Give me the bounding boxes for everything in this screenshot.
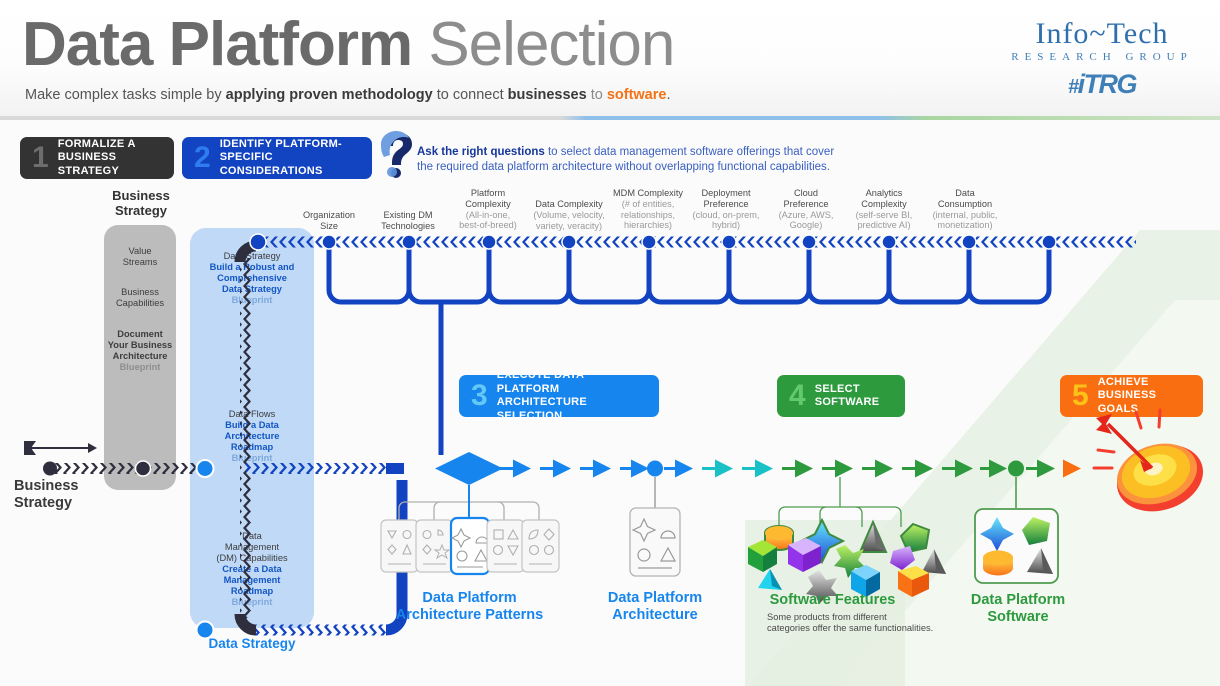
step-1-label: FORMALIZE A BUSINESS STRATEGY (58, 138, 174, 179)
software-shape-blue-star (980, 517, 1014, 551)
patterns-tree (399, 485, 539, 520)
logo-itrg: #iTRG (1002, 69, 1202, 100)
features-tree (779, 477, 901, 527)
bs-item-2-title: Document Your Business Architecture (108, 329, 172, 361)
column-header-analytics-complexity: Analytics Complexity (self-serve BI, pre… (843, 188, 925, 231)
column-header-data-consumption: Data Consumption (internal, public, mone… (920, 188, 1010, 231)
step-3-number: 3 (471, 381, 488, 411)
col-title-6: Cloud Preference (765, 188, 847, 210)
bs-item-1-title: Business Capabilities (116, 287, 164, 308)
column-header-data-complexity: Data Complexity (Volume, velocity, varie… (524, 199, 614, 231)
col-title-1: Existing DM Technologies (367, 210, 449, 232)
logo-itrg-text: iTRG (1078, 69, 1137, 99)
col-sub-8: (internal, public, monetization) (920, 210, 1010, 232)
question-mark-icon (381, 131, 412, 178)
bs-item-business-capabilities: Business Capabilities (104, 287, 176, 309)
bs-item-0-title: Value Streams (123, 246, 158, 267)
software-card[interactable] (975, 509, 1058, 583)
step-5-banner[interactable]: 5 ACHIEVE BUSINESS GOALS (1060, 375, 1203, 417)
pattern-card-5[interactable] (522, 520, 559, 572)
feature-shape-purple-cube (788, 538, 821, 572)
data-strategy-track (197, 234, 1137, 639)
consideration-stems (329, 242, 1049, 302)
col-title-7: Analytics Complexity (843, 188, 925, 210)
col-title-3: Data Complexity (524, 199, 614, 210)
logo-hash: # (1068, 76, 1078, 98)
subtitle-part-3: to (587, 87, 607, 103)
subtitle-period: . (666, 87, 670, 103)
step-3-banner[interactable]: 3 EXECUTE DATA PLATFORM ARCHITECTURE SEL… (459, 375, 659, 417)
step-2-number: 2 (194, 143, 211, 173)
col-sub-2: (All-in-one, best-of-breed) (447, 210, 529, 232)
architecture-node (647, 461, 663, 477)
software-shape-green-gem (1022, 517, 1050, 545)
ds-item-1-heading: Data Flows (190, 409, 314, 420)
bs-item-document-architecture: Document Your Business Architecture Blue… (104, 329, 176, 373)
software-node (1008, 461, 1024, 477)
subtitle-part-1: Make complex tasks simple by (25, 87, 226, 103)
architecture-card[interactable] (630, 508, 680, 576)
pattern-card-3-selected[interactable] (451, 518, 489, 574)
feature-shape-blue-star (801, 520, 843, 562)
label-data-platform-software: Data Platform Software (948, 592, 1088, 626)
ds-item-2-heading: Data Management (DM) Capabilities (190, 531, 314, 564)
col-sub-3: (Volume, velocity, variety, veracity) (524, 210, 614, 232)
column-header-cloud-preference: Cloud Preference (Azure, AWS, Google) (765, 188, 847, 231)
col-sub-5: (cloud, on-prem, hybrid) (684, 210, 768, 232)
page-title-light: Selection (428, 10, 674, 79)
col-title-8: Data Consumption (920, 188, 1010, 210)
logo-research-group: RESEARCH GROUP (1002, 51, 1202, 63)
business-strategy-axis-label: Business Strategy (14, 478, 78, 512)
feature-shape-cyan-cone (758, 569, 782, 590)
col-title-5: Deployment Preference (684, 188, 768, 210)
column-header-platform-complexity: Platform Complexity (All-in-one, best-of… (447, 188, 529, 231)
step-5-label: ACHIEVE BUSINESS GOALS (1098, 376, 1203, 417)
page-title: Data Platform Selection (22, 12, 674, 78)
bs-item-value-streams: Value Streams (104, 246, 176, 268)
company-logo: Info~Tech RESEARCH GROUP #iTRG (1002, 18, 1202, 100)
label-architecture-patterns: Data Platform Architecture Patterns (372, 590, 567, 624)
process-rail (500, 461, 1078, 477)
ds-item-data-flows: Data Flows Build a Data Architecture Roa… (190, 409, 314, 464)
col-sub-6: (Azure, AWS, Google) (765, 210, 847, 232)
software-shape-orange-cylinder (983, 551, 1013, 576)
bs-item-2-blueprint: Blueprint (104, 362, 176, 373)
subtitle-part-2: to connect (433, 87, 508, 103)
page-header: Data Platform Selection Make complex tas… (0, 0, 1220, 118)
label-software-features: Software Features (745, 592, 920, 609)
decision-diamond (435, 452, 503, 485)
ds-item-0-heading: Data Strategy (190, 251, 314, 262)
feature-shape-gray-cone (860, 522, 886, 552)
business-strategy-heading: Business Strategy (96, 188, 186, 218)
column-header-existing-dm-technologies: Existing DM Technologies (367, 210, 449, 232)
logo-infotech: Info~Tech (1002, 18, 1202, 50)
question-callout-bold: Ask the right questions (417, 146, 545, 158)
pattern-card-4[interactable] (487, 520, 524, 572)
ds-item-2-blueprint: Blueprint (190, 597, 314, 608)
step-3-label: EXECUTE DATA PLATFORM ARCHITECTURE SELEC… (497, 369, 659, 423)
pattern-card-2[interactable] (416, 520, 453, 572)
feature-shape-orange-cylinder (765, 526, 793, 550)
data-strategy-label: Data Strategy (186, 636, 318, 651)
step-2-banner[interactable]: 2 IDENTIFY PLATFORM- SPECIFIC CONSIDERAT… (182, 137, 372, 179)
software-shape-gray-cone (1027, 548, 1053, 574)
column-header-mdm-complexity: MDM Complexity (# of entities, relations… (602, 188, 694, 231)
step-2-label: IDENTIFY PLATFORM- SPECIFIC CONSIDERATIO… (220, 138, 372, 179)
feature-shape-green-cube (748, 540, 777, 572)
subtitle-bold-businesses: businesses (508, 87, 587, 103)
step-5-number: 5 (1072, 381, 1089, 411)
col-sub-4: (# of entities, relationships, hierarchi… (602, 199, 694, 231)
ds-item-0-bold: Build a Robust and Comprehensive Data St… (190, 262, 314, 295)
ds-item-data-strategy: Data Strategy Build a Robust and Compreh… (190, 251, 314, 306)
header-divider (0, 116, 1220, 120)
question-callout-text: Ask the right questions to select data m… (417, 145, 842, 174)
subtitle-bold-methodology: applying proven methodology (226, 87, 433, 103)
col-title-2: Platform Complexity (447, 188, 529, 210)
step-1-banner[interactable]: 1 FORMALIZE A BUSINESS STRATEGY (20, 137, 174, 179)
feature-shape-purple-gem (890, 546, 915, 570)
feature-shape-green-star (834, 545, 866, 578)
column-header-deployment-preference: Deployment Preference (cloud, on-prem, h… (684, 188, 768, 231)
page-title-bold: Data Platform (22, 10, 412, 79)
infographic-canvas: Data Platform Selection Make complex tas… (0, 0, 1220, 686)
label-data-platform-architecture: Data Platform Architecture (585, 590, 725, 624)
col-sub-7: (self-serve BI, predictive AI) (843, 210, 925, 232)
step-4-banner[interactable]: 4 SELECT SOFTWARE (777, 375, 905, 417)
consideration-nodes (322, 235, 1056, 249)
ds-item-1-bold: Build a Data Architecture Roadmap (190, 420, 314, 453)
ds-item-2-bold: Create a Data Management Roadmap (190, 564, 314, 597)
step-4-number: 4 (789, 381, 806, 411)
label-software-features-note: Some products from different categories … (767, 612, 947, 634)
target-bullseye-icon (1094, 410, 1212, 522)
col-title-4: MDM Complexity (602, 188, 694, 199)
ds-item-1-blueprint: Blueprint (190, 453, 314, 464)
page-subtitle: Make complex tasks simple by applying pr… (25, 87, 671, 103)
subtitle-bold-software: software (607, 87, 667, 103)
feature-shape-gray-cone-2 (922, 549, 946, 574)
pattern-card-1[interactable] (381, 520, 418, 572)
ds-item-dm-capabilities: Data Management (DM) Capabilities Create… (190, 531, 314, 608)
ds-item-0-blueprint: Blueprint (190, 295, 314, 306)
step-4-label: SELECT SOFTWARE (815, 383, 892, 410)
feature-shape-green-gem (901, 524, 929, 552)
business-strategy-pointer-arrow (24, 441, 97, 455)
step-1-number: 1 (32, 143, 49, 173)
